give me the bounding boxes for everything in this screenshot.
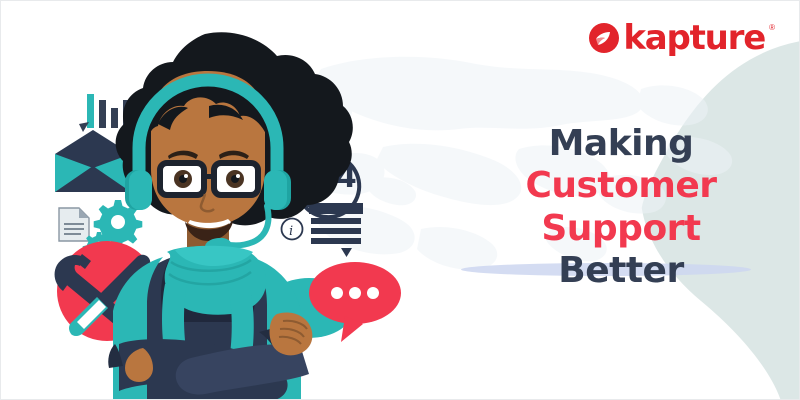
trademark-symbol: ® — [769, 23, 775, 32]
svg-text:i: i — [289, 224, 293, 239]
document-icon — [59, 208, 89, 241]
list-document-icon — [309, 203, 363, 257]
headline-line-1: Making — [456, 123, 786, 165]
headline-line-3: Better — [456, 250, 786, 292]
promo-banner: ? — [0, 0, 800, 400]
kapture-bird-mark — [589, 23, 619, 53]
headline-line-2: Customer Support — [456, 165, 786, 250]
support-agent-illustration: ? — [19, 26, 419, 400]
kapture-logo[interactable]: kapture ® — [589, 21, 775, 55]
headline: Making Customer Support Better — [456, 123, 786, 293]
logo-wordmark: kapture — [623, 21, 765, 55]
info-icon: i — [282, 219, 303, 240]
